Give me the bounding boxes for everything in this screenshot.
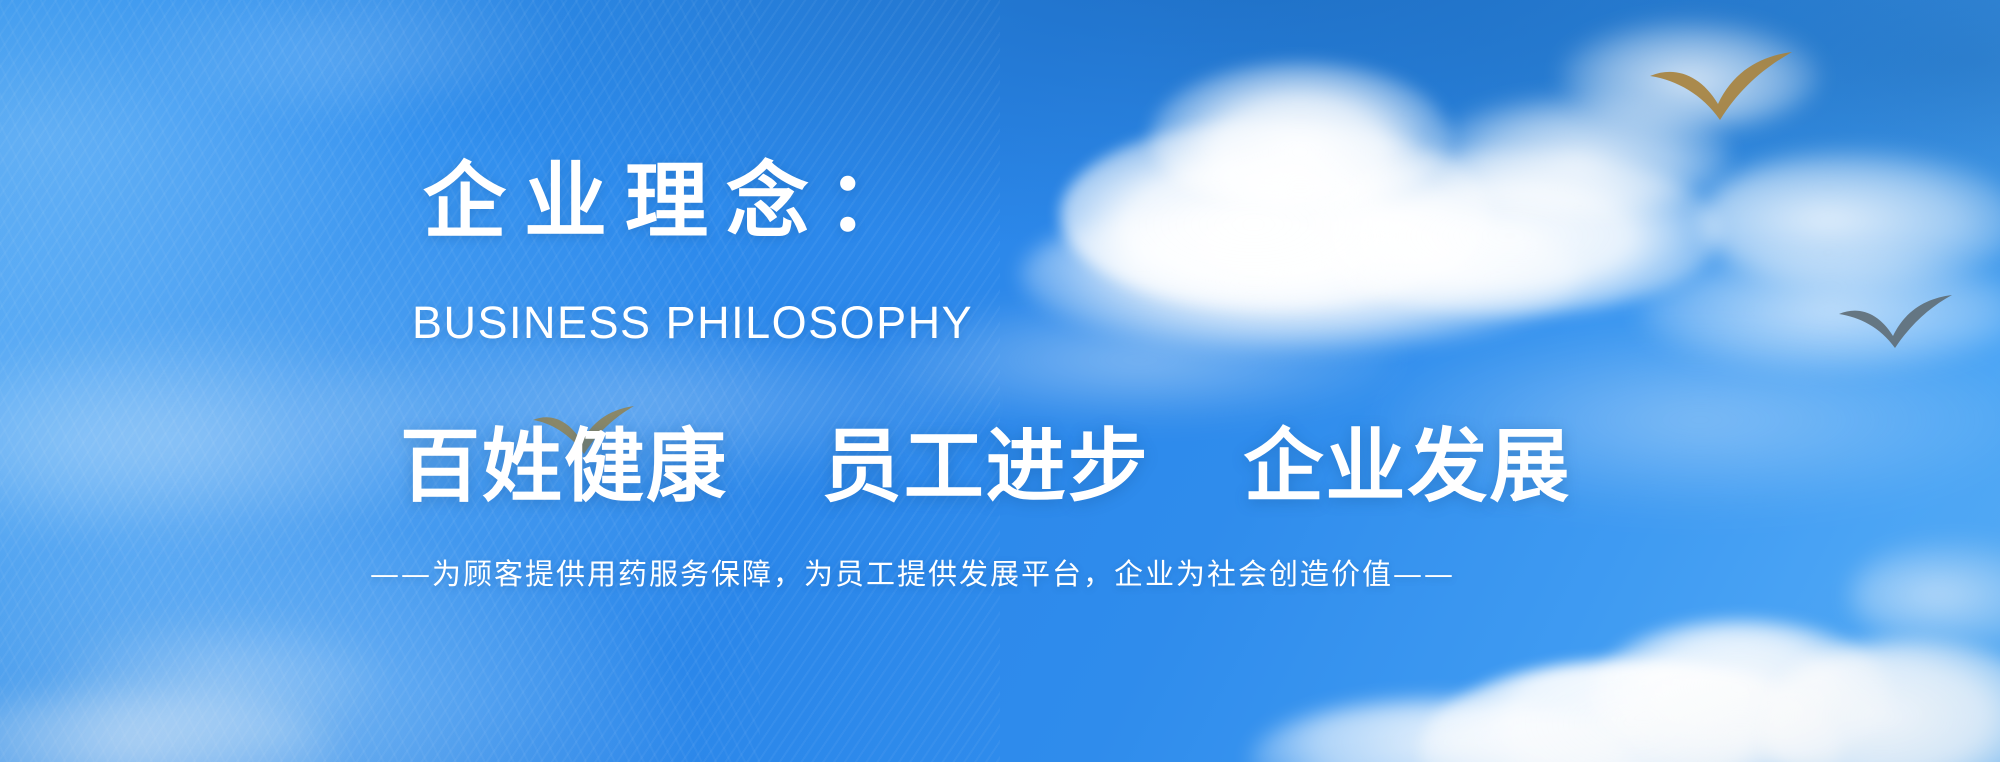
slogan-line: 百姓健康 员工进步 企业发展 bbox=[400, 424, 1571, 510]
page-title-chinese: 企业理念： bbox=[423, 160, 928, 243]
tagline-text: ——为顾客提供用药服务保障，为员工提供发展平台，企业为社会创造价值—— bbox=[370, 560, 1455, 589]
slogan-segment-2: 员工进步 bbox=[822, 420, 1150, 513]
banner-text-content: 企业理念： BUSINESS PHILOSOPHY 百姓健康 员工进步 企业发展… bbox=[0, 0, 2000, 762]
slogan-segment-3: 企业发展 bbox=[1243, 420, 1571, 513]
business-philosophy-banner: 企业理念： BUSINESS PHILOSOPHY 百姓健康 员工进步 企业发展… bbox=[0, 0, 2000, 762]
slogan-segment-1: 百姓健康 bbox=[400, 420, 728, 513]
page-subtitle-english: BUSINESS PHILOSOPHY bbox=[412, 300, 973, 345]
